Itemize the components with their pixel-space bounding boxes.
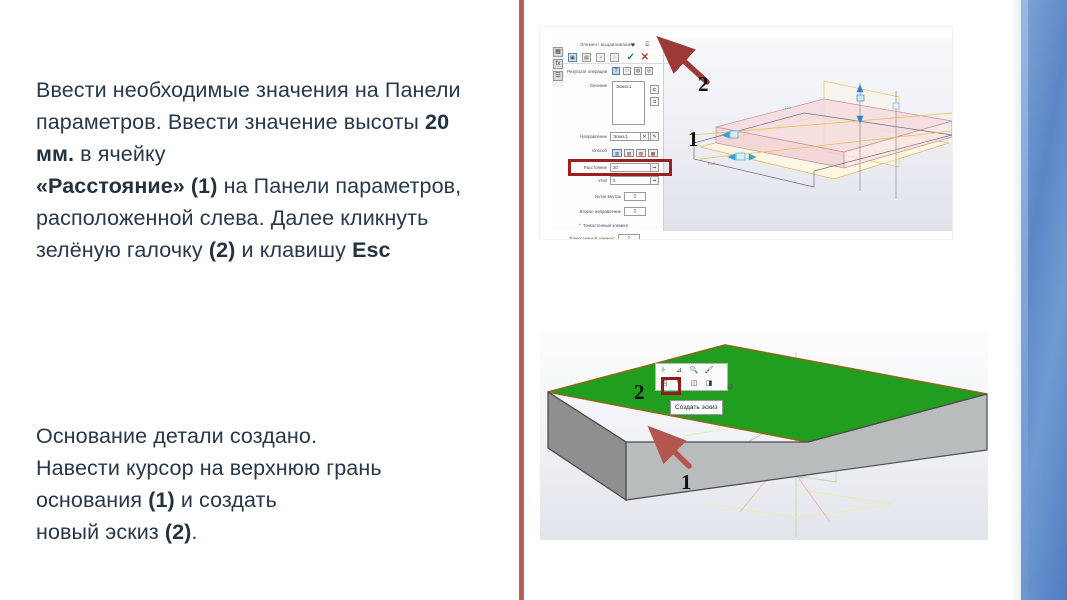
text-column: Ввести необходимые значения на Панели па…	[0, 0, 512, 600]
rail-grid-icon[interactable]: ▦	[553, 47, 563, 57]
second-direction-checkbox[interactable]: 0	[624, 207, 646, 216]
normal-to-icon[interactable]: ⊿	[673, 365, 685, 376]
chevron-up-icon: ⌃	[578, 223, 582, 228]
extrude-icon[interactable]: ▣	[568, 53, 577, 62]
square-icon[interactable]: □	[623, 67, 631, 75]
tooltip-create-sketch: Создать эскиз	[670, 400, 723, 415]
revolve-icon[interactable]: ◔	[596, 53, 605, 62]
callout-arrow-bottom	[645, 425, 695, 471]
second-direction-value: 0	[634, 209, 637, 215]
gear-icon[interactable]: ⚙	[727, 383, 733, 391]
row-label-method: Способ	[566, 148, 610, 153]
green-check-icon[interactable]: ✓	[627, 53, 635, 63]
section-thinwall[interactable]: ⌃ Тонкостенный элемент	[578, 223, 659, 229]
para-1-seg-2: в ячейку	[74, 142, 165, 166]
upto-icon[interactable]: ▨	[636, 149, 646, 157]
rail-function-icon[interactable]: fx	[553, 59, 563, 69]
shell-icon[interactable]: ◎	[645, 67, 653, 75]
through-icon[interactable]: ▧	[624, 149, 634, 157]
marker-2-bottom: 2	[634, 380, 645, 405]
row-label-result: Результат операции	[566, 69, 610, 74]
right-accent-band	[1021, 0, 1067, 600]
rail-menu-icon[interactable]: ☰	[553, 71, 563, 81]
row-label-angle: Угол	[566, 178, 610, 183]
sections-list-item: Эскиз:1	[616, 84, 631, 89]
marker-1-top: 1	[688, 127, 699, 152]
question-icon[interactable]: ?	[612, 67, 620, 75]
top-cad-screenshot: 120 R10 ▦ fx ☰ Элемент выдавливания ▣ ▤ …	[540, 27, 952, 239]
context-toolbar-row-1: ⊦ ⊿ 🔍 🖌	[658, 365, 715, 376]
row-label-thinwall: Тонкостенный элемент	[566, 236, 618, 239]
para-2-seg-1: (1)	[148, 488, 175, 512]
row-angle: Угол 0	[566, 175, 659, 186]
para-1-seg-3: «Расстояние» (1)	[36, 174, 218, 198]
pick-direction-icon[interactable]: ✎	[650, 132, 659, 141]
angle-input-value: 0	[613, 178, 615, 183]
pin-icon[interactable]: ⌸	[645, 42, 649, 49]
para-1-seg-0: Ввести необходимые значения на Панели па…	[36, 78, 461, 134]
solid-icon[interactable]: ◍	[634, 67, 642, 75]
taper-checkbox-value: 0	[634, 194, 637, 200]
para-1-seg-6: и клавишу	[235, 238, 352, 262]
result-icon-group: ? □ ◍ ◎	[612, 67, 653, 75]
red-cross-icon[interactable]: ✕	[641, 53, 649, 63]
row-label-sections: Сечения	[566, 83, 610, 88]
distance-highlight-box	[568, 159, 672, 176]
marker-1-bottom: 1	[681, 470, 692, 495]
para-2-seg-3: (2)	[165, 520, 192, 544]
row-label-taper: Уклон внутрь	[566, 194, 624, 199]
blind-icon[interactable]: ▥	[612, 149, 622, 157]
zoom-icon[interactable]: 🔍	[688, 365, 700, 376]
parameter-panel: ▦ fx ☰ Элемент выдавливания ▣ ▤ ◔ ◌ ♥ ⌸ …	[552, 39, 664, 231]
sections-listbox[interactable]: Эскиз:1	[612, 81, 645, 125]
marker-2-top: 2	[698, 72, 709, 97]
row-label-second-direction: Второе направление	[566, 209, 624, 214]
right-band-fade	[1011, 0, 1021, 600]
row-label-direction: Направление	[566, 134, 610, 139]
instruction-paragraph-1: Ввести необходимые значения на Панели па…	[36, 42, 492, 266]
section-thinwall-label: Тонкостенный элемент	[583, 223, 629, 228]
paint-icon[interactable]: 🖌	[703, 365, 715, 376]
method-icon-group: ▥ ▧ ▨ ▩	[612, 149, 658, 157]
symmetric-icon[interactable]: ▩	[648, 149, 658, 157]
angle-arrow-icon[interactable]: ➞	[650, 176, 659, 185]
create-sketch-highlight-box	[661, 377, 681, 395]
cut-icon[interactable]: ▤	[582, 53, 591, 62]
section-icon[interactable]: ◨	[703, 378, 715, 389]
plane-icon[interactable]: ◫	[688, 378, 700, 389]
svg-text:R10: R10	[708, 161, 716, 166]
thinwall-checkbox[interactable]: 0	[618, 234, 640, 239]
base-plate-model	[540, 332, 988, 540]
heart-icon[interactable]: ♥	[631, 42, 635, 49]
row-thinwall: Тонкостенный элемент 0	[566, 233, 659, 239]
clear-direction-icon[interactable]: ✕	[640, 132, 649, 141]
row-second-direction: Второе направление 0	[566, 206, 659, 217]
para-1-seg-7: Esc	[352, 238, 391, 262]
bottom-cad-screenshot	[540, 332, 988, 540]
thinwall-checkbox-value: 0	[628, 236, 631, 239]
vertical-divider	[519, 0, 524, 600]
para-2-seg-4: .	[191, 520, 197, 544]
direction-field-value: Эскиз:1	[613, 134, 628, 139]
para-1-seg-5: (2)	[209, 238, 236, 262]
row-taper-inward: Уклон внутрь 0	[566, 191, 659, 202]
sweep-icon[interactable]: ◌	[610, 53, 619, 62]
remove-section-icon[interactable]: ⊐	[650, 97, 659, 106]
instruction-paragraph-2: Основание детали создано. Навести курсор…	[36, 388, 492, 548]
taper-checkbox[interactable]: 0	[624, 192, 646, 201]
panel-side-rail: ▦ fx ☰	[552, 47, 564, 87]
svg-text:120: 120	[784, 105, 791, 110]
measure-icon[interactable]: ⊦	[658, 365, 670, 376]
